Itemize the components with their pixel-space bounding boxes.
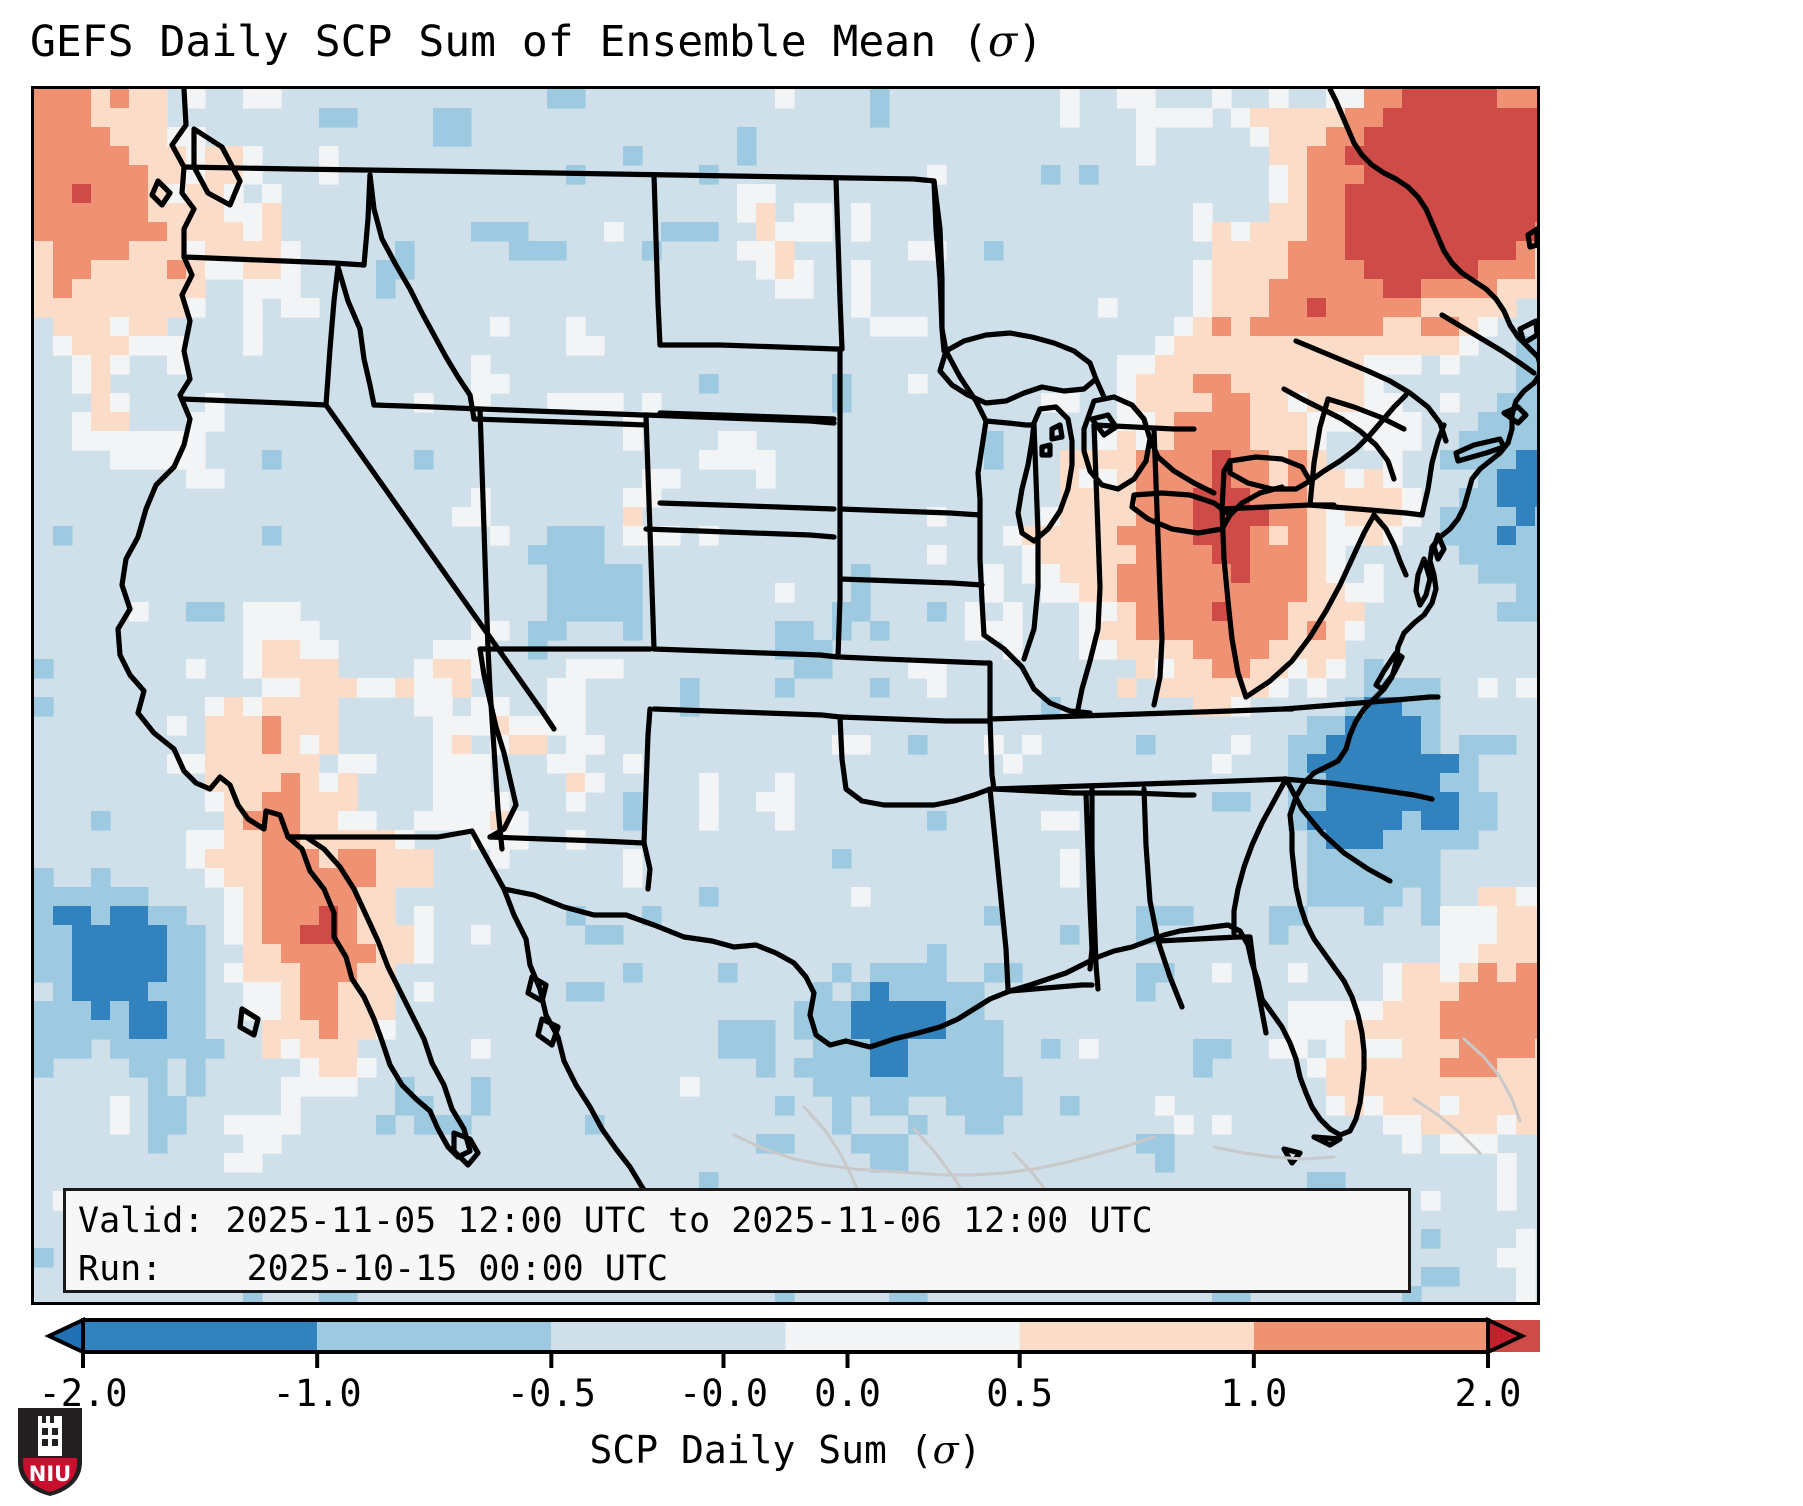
heatmap-cell: [414, 944, 434, 964]
heatmap-cell: [1288, 545, 1308, 565]
heatmap-cell: [1193, 564, 1213, 584]
heatmap-cell: [110, 222, 130, 242]
heatmap-cell: [262, 963, 282, 983]
heatmap-cell: [376, 830, 396, 850]
heatmap-cell: [1193, 355, 1213, 375]
heatmap-cell: [1193, 393, 1213, 413]
heatmap-cell: [110, 963, 130, 983]
heatmap-cell: [110, 1039, 130, 1059]
heatmap-cell: [243, 279, 263, 299]
heatmap-cell: [1497, 1020, 1517, 1040]
heatmap-cell: [1193, 203, 1213, 223]
heatmap-cell: [1345, 336, 1365, 356]
heatmap-cell: [756, 1020, 776, 1040]
heatmap-cell: [186, 659, 206, 679]
heatmap-cell: [167, 944, 187, 964]
heatmap-cell: [72, 925, 92, 945]
heatmap-cell: [1307, 868, 1327, 888]
heatmap-cell: [1497, 146, 1517, 166]
heatmap-cell: [433, 127, 453, 147]
heatmap-cell: [1459, 982, 1479, 1002]
heatmap-cell: [1288, 146, 1308, 166]
heatmap-cell: [243, 773, 263, 793]
heatmap-cell: [1326, 203, 1346, 223]
heatmap-cell: [433, 716, 453, 736]
heatmap-cell: [1288, 431, 1308, 451]
heatmap-cell: [1136, 982, 1156, 1002]
heatmap-cell: [1402, 678, 1422, 698]
heatmap-cell: [1402, 773, 1422, 793]
heatmap-cell: [91, 222, 111, 242]
heatmap-cell: [224, 222, 244, 242]
colorbar-tick-label: -0.5: [507, 1372, 596, 1415]
heatmap-cell: [395, 868, 415, 888]
heatmap-cell: [1307, 279, 1327, 299]
heatmap-cell: [1269, 621, 1289, 641]
heatmap-cell: [338, 773, 358, 793]
heatmap-cell: [1364, 317, 1384, 337]
heatmap-cell: [1497, 165, 1517, 185]
heatmap-cell: [53, 89, 73, 109]
heatmap-cell: [775, 678, 795, 698]
heatmap-cell: [1364, 735, 1384, 755]
heatmap-cell: [1136, 602, 1156, 622]
heatmap-cell: [1421, 830, 1441, 850]
heatmap-cell: [300, 735, 320, 755]
heatmap-cell: [1402, 127, 1422, 147]
heatmap-cell: [1364, 184, 1384, 204]
heatmap-cell: [1440, 773, 1460, 793]
heatmap-cell: [414, 906, 434, 926]
heatmap-cell: [775, 241, 795, 261]
heatmap-cell: [984, 1058, 1004, 1078]
heatmap-cell: [72, 963, 92, 983]
colorbar[interactable]: [31, 1316, 1540, 1356]
heatmap-cell: [1516, 1229, 1536, 1249]
heatmap-cell: [1326, 184, 1346, 204]
heatmap-cell: [1383, 317, 1403, 337]
heatmap-cell: [1535, 1058, 1537, 1078]
heatmap-cell: [186, 963, 206, 983]
heatmap-cell: [1155, 906, 1175, 926]
heatmap-cell: [1041, 1039, 1061, 1059]
heatmap-cell: [1535, 450, 1537, 470]
heatmap-cell: [338, 1077, 358, 1097]
heatmap-cell: [1288, 526, 1308, 546]
heatmap-cell: [623, 564, 643, 584]
heatmap-cell: [1364, 241, 1384, 261]
heatmap-cell: [1535, 526, 1537, 546]
heatmap-cell: [1364, 1058, 1384, 1078]
heatmap-cell: [661, 222, 681, 242]
heatmap-cell: [1345, 887, 1365, 907]
colorbar-axis-label: SCP Daily Sum (σ): [31, 1428, 1540, 1472]
heatmap-cell: [1516, 1096, 1536, 1116]
colorbar-tick-labels: -2.0-1.0-0.5-0.00.00.51.02.0: [31, 1372, 1540, 1416]
heatmap-cell: [737, 241, 757, 261]
heatmap-cell: [72, 355, 92, 375]
heatmap-cell: [490, 374, 510, 394]
heatmap-cell: [984, 1096, 1004, 1116]
heatmap-cell: [1288, 241, 1308, 261]
heatmap-cell: [851, 602, 871, 622]
heatmap-cell: [1383, 735, 1403, 755]
heatmap-cell: [1421, 1058, 1441, 1078]
heatmap-cell: [1383, 127, 1403, 147]
heatmap-cell: [1212, 393, 1232, 413]
heatmap-cell: [832, 1001, 852, 1021]
heatmap-cell: [452, 811, 472, 831]
heatmap-cell: [262, 602, 282, 622]
colorbar-segment: [551, 1320, 785, 1352]
heatmap-cell: [1516, 602, 1536, 622]
heatmap-cell: [1364, 1039, 1384, 1059]
heatmap-cell: [34, 203, 54, 223]
heatmap-cell: [1307, 792, 1327, 812]
heatmap-cell: [110, 1096, 130, 1116]
heatmap-cell: [148, 450, 168, 470]
heatmap-cell: [433, 735, 453, 755]
heatmap-cell: [53, 203, 73, 223]
heatmap-cell: [1497, 1248, 1517, 1268]
heatmap-cell: [1478, 906, 1498, 926]
heatmap-cell: [566, 659, 586, 679]
heatmap-cell: [1307, 146, 1327, 166]
heatmap-cell: [1269, 355, 1289, 375]
heatmap-cell: [1193, 1039, 1213, 1059]
heatmap-cell: [1440, 1001, 1460, 1021]
heatmap-cell: [243, 792, 263, 812]
heatmap-cell: [1060, 108, 1080, 128]
heatmap-cell: [1497, 735, 1517, 755]
heatmap-cell: [1174, 640, 1194, 660]
heatmap-cell: [1117, 564, 1137, 584]
heatmap-cell: [243, 982, 263, 1002]
heatmap-cell: [148, 336, 168, 356]
heatmap-cell: [1326, 279, 1346, 299]
heatmap-cell: [319, 773, 339, 793]
heatmap-cell: [1516, 469, 1536, 489]
heatmap-cell: [300, 1001, 320, 1021]
heatmap-cell: [908, 1039, 928, 1059]
heatmap-cell: [851, 1134, 871, 1154]
heatmap-cell: [1516, 507, 1536, 527]
heatmap-cell: [1326, 146, 1346, 166]
heatmap-cell: [1193, 260, 1213, 280]
heatmap-cell: [1193, 621, 1213, 641]
heatmap-cell: [414, 697, 434, 717]
heatmap-cell: [34, 1001, 54, 1021]
heatmap-cell: [1364, 108, 1384, 128]
heatmap-cell: [53, 336, 73, 356]
heatmap-cell: [984, 431, 1004, 451]
heatmap-cell: [452, 792, 472, 812]
heatmap-cell: [1383, 811, 1403, 831]
heatmap-cell: [1402, 1096, 1422, 1116]
heatmap-cell: [1364, 488, 1384, 508]
heatmap-cell: [34, 184, 54, 204]
heatmap-cell: [395, 678, 415, 698]
heatmap-cell: [1478, 887, 1498, 907]
heatmap-cell: [1497, 222, 1517, 242]
heatmap-cell: [585, 982, 605, 1002]
heatmap-cell: [1326, 526, 1346, 546]
heatmap-cell: [1250, 355, 1270, 375]
heatmap-cell: [414, 868, 434, 888]
heatmap-cell: [1535, 127, 1537, 147]
heatmap-cell: [1535, 488, 1537, 508]
heatmap-cell: [1193, 298, 1213, 318]
heatmap-cell: [1307, 678, 1327, 698]
heatmap-cell: [91, 108, 111, 128]
heatmap-cell: [72, 298, 92, 318]
heatmap-cell: [53, 127, 73, 147]
heatmap-cell: [1060, 564, 1080, 584]
heatmap-cell: [1003, 1096, 1023, 1116]
heatmap-cell: [281, 659, 301, 679]
heatmap-cell: [452, 754, 472, 774]
heatmap-cell: [1459, 811, 1479, 831]
heatmap-cell: [851, 735, 871, 755]
heatmap-cell: [1117, 621, 1137, 641]
heatmap-cell: [1250, 602, 1270, 622]
heatmap-cell: [34, 298, 54, 318]
heatmap-cell: [927, 678, 947, 698]
heatmap-cell: [148, 963, 168, 983]
heatmap-cell: [965, 1096, 985, 1116]
heatmap-cell: [1459, 1001, 1479, 1021]
heatmap-cell: [813, 659, 833, 679]
heatmap-cell: [585, 602, 605, 622]
heatmap-cell: [1440, 1020, 1460, 1040]
heatmap-cell: [1364, 336, 1384, 356]
heatmap-cell: [72, 279, 92, 299]
heatmap-cell: [281, 735, 301, 755]
heatmap-cell: [1497, 1153, 1517, 1173]
heatmap-cell: [1497, 507, 1517, 527]
heatmap-cell: [1250, 621, 1270, 641]
heatmap-cell: [1041, 165, 1061, 185]
heatmap-cell: [1155, 640, 1175, 660]
heatmap-cell: [1440, 963, 1460, 983]
heatmap-cell: [566, 583, 586, 603]
heatmap-cell: [414, 393, 434, 413]
heatmap-cell: [414, 925, 434, 945]
heatmap-cell: [889, 1134, 909, 1154]
heatmap-cell: [1060, 526, 1080, 546]
heatmap-cell: [1269, 906, 1289, 926]
heatmap-cell: [243, 317, 263, 337]
heatmap-cell: [737, 146, 757, 166]
heatmap-cell: [262, 697, 282, 717]
heatmap-cell: [908, 1077, 928, 1097]
heatmap-cell: [53, 165, 73, 185]
heatmap-cell: [243, 298, 263, 318]
heatmap-cell: [1459, 735, 1479, 755]
heatmap-cell: [1003, 621, 1023, 641]
heatmap-cell: [1212, 336, 1232, 356]
heatmap-cell: [319, 659, 339, 679]
heatmap-cell: [34, 241, 54, 261]
heatmap-cell: [794, 260, 814, 280]
colorbar-tick-label: -0.0: [679, 1372, 768, 1415]
heatmap-cell: [72, 317, 92, 337]
heatmap-cell: [1421, 906, 1441, 926]
heatmap-cell: [148, 1058, 168, 1078]
heatmap-cell: [1098, 640, 1118, 660]
heatmap-cell: [129, 184, 149, 204]
heatmap-cell: [1535, 412, 1537, 432]
heatmap-cell: [243, 146, 263, 166]
heatmap-cell: [129, 1058, 149, 1078]
heatmap-cell: [471, 754, 491, 774]
heatmap-cell: [376, 887, 396, 907]
heatmap-cell: [1269, 1039, 1289, 1059]
heatmap-cell: [148, 982, 168, 1002]
heatmap-cell: [566, 545, 586, 565]
heatmap-cell: [72, 906, 92, 926]
heatmap-cell: [110, 906, 130, 926]
heatmap-cell: [1421, 1077, 1441, 1097]
heatmap-cell: [338, 906, 358, 926]
heatmap-cell: [1307, 1001, 1327, 1021]
map-axes[interactable]: [31, 86, 1540, 1305]
heatmap-cell: [34, 925, 54, 945]
heatmap-cell: [243, 336, 263, 356]
heatmap-cell: [870, 963, 890, 983]
heatmap-cell: [1402, 317, 1422, 337]
colorbar-segment: [317, 1320, 551, 1352]
heatmap-cell: [319, 811, 339, 831]
heatmap-cell: [72, 944, 92, 964]
geo-path: [1086, 793, 1194, 795]
heatmap-cell: [547, 602, 567, 622]
heatmap-cell: [1364, 830, 1384, 850]
heatmap-cell: [262, 868, 282, 888]
heatmap-cell: [889, 1077, 909, 1097]
heatmap-cell: [281, 1039, 301, 1059]
heatmap-cell: [357, 868, 377, 888]
heatmap-cell: [1288, 184, 1308, 204]
heatmap-cell: [1193, 1058, 1213, 1078]
heatmap-cell: [1459, 773, 1479, 793]
heatmap-cell: [623, 849, 643, 869]
heatmap-cell: [53, 1001, 73, 1021]
heatmap-cell: [1516, 127, 1536, 147]
heatmap-cell: [319, 678, 339, 698]
heatmap-cell: [547, 678, 567, 698]
heatmap-cell: [1402, 868, 1422, 888]
heatmap-cell: [1269, 184, 1289, 204]
colorbar-segment: [1020, 1320, 1254, 1352]
heatmap-cell: [148, 241, 168, 261]
heatmap-cell: [110, 412, 130, 432]
heatmap-cell: [262, 621, 282, 641]
heatmap-cell: [148, 1077, 168, 1097]
heatmap-cell: [1269, 89, 1289, 109]
heatmap-cell: [1535, 982, 1537, 1002]
heatmap-cell: [1174, 1115, 1194, 1135]
heatmap-cell: [1003, 754, 1023, 774]
heatmap-cell: [148, 127, 168, 147]
heatmap-cell: [1212, 640, 1232, 660]
heatmap-cell: [1497, 602, 1517, 622]
heatmap-cell: [680, 1077, 700, 1097]
heatmap-cell: [1440, 792, 1460, 812]
heatmap-cell: [53, 925, 73, 945]
heatmap-cell: [129, 279, 149, 299]
heatmap-cell: [1212, 298, 1232, 318]
heatmap-cell: [623, 488, 643, 508]
heatmap-cell: [243, 944, 263, 964]
heatmap-cell: [148, 317, 168, 337]
heatmap-cell: [1193, 317, 1213, 337]
heatmap-cell: [1402, 146, 1422, 166]
heatmap-cell: [281, 792, 301, 812]
heatmap-cell: [1402, 1134, 1422, 1154]
heatmap-cell: [452, 127, 472, 147]
heatmap-cell: [281, 1077, 301, 1097]
heatmap-cell: [91, 393, 111, 413]
heatmap-cell: [1497, 982, 1517, 1002]
heatmap-cell: [1269, 317, 1289, 337]
heatmap-cell: [794, 203, 814, 223]
heatmap-cell: [1402, 963, 1422, 983]
heatmap-cell: [1440, 184, 1460, 204]
heatmap-cell: [91, 89, 111, 109]
heatmap-cell: [623, 868, 643, 888]
heatmap-cell: [148, 260, 168, 280]
heatmap-cell: [1155, 393, 1175, 413]
heatmap-cell: [243, 925, 263, 945]
heatmap-cell: [205, 412, 225, 432]
heatmap-cell: [604, 659, 624, 679]
heatmap-cell: [794, 279, 814, 299]
heatmap-cell: [1288, 260, 1308, 280]
heatmap-cell: [1478, 260, 1498, 280]
heatmap-cell: [91, 336, 111, 356]
heatmap-cell: [1459, 298, 1479, 318]
heatmap-cell: [1516, 944, 1536, 964]
heatmap-cell: [585, 393, 605, 413]
heatmap-cell: [262, 203, 282, 223]
heatmap-cell: [813, 1058, 833, 1078]
cbar-label-sigma-symbol: σ: [933, 1428, 959, 1472]
heatmap-cell: [1307, 374, 1327, 394]
heatmap-cell: [1288, 108, 1308, 128]
heatmap-cell: [110, 279, 130, 299]
heatmap-cell: [1516, 925, 1536, 945]
heatmap-cell: [53, 108, 73, 128]
heatmap-cell: [471, 374, 491, 394]
heatmap-cell: [224, 260, 244, 280]
heatmap-cell: [224, 1115, 244, 1135]
heatmap-cell: [1212, 678, 1232, 698]
heatmap-cell: [1497, 1172, 1517, 1192]
heatmap-cell: [965, 982, 985, 1002]
heatmap-cell: [889, 1001, 909, 1021]
heatmap-cell: [1326, 298, 1346, 318]
heatmap-cell: [281, 925, 301, 945]
heatmap-cell: [91, 868, 111, 888]
heatmap-cell: [1383, 279, 1403, 299]
heatmap-cell: [1364, 222, 1384, 242]
heatmap-cell: [1383, 431, 1403, 451]
heatmap-cell: [1516, 1001, 1536, 1021]
heatmap-cell: [262, 925, 282, 945]
heatmap-cell: [1250, 526, 1270, 546]
heatmap-cell: [148, 1096, 168, 1116]
